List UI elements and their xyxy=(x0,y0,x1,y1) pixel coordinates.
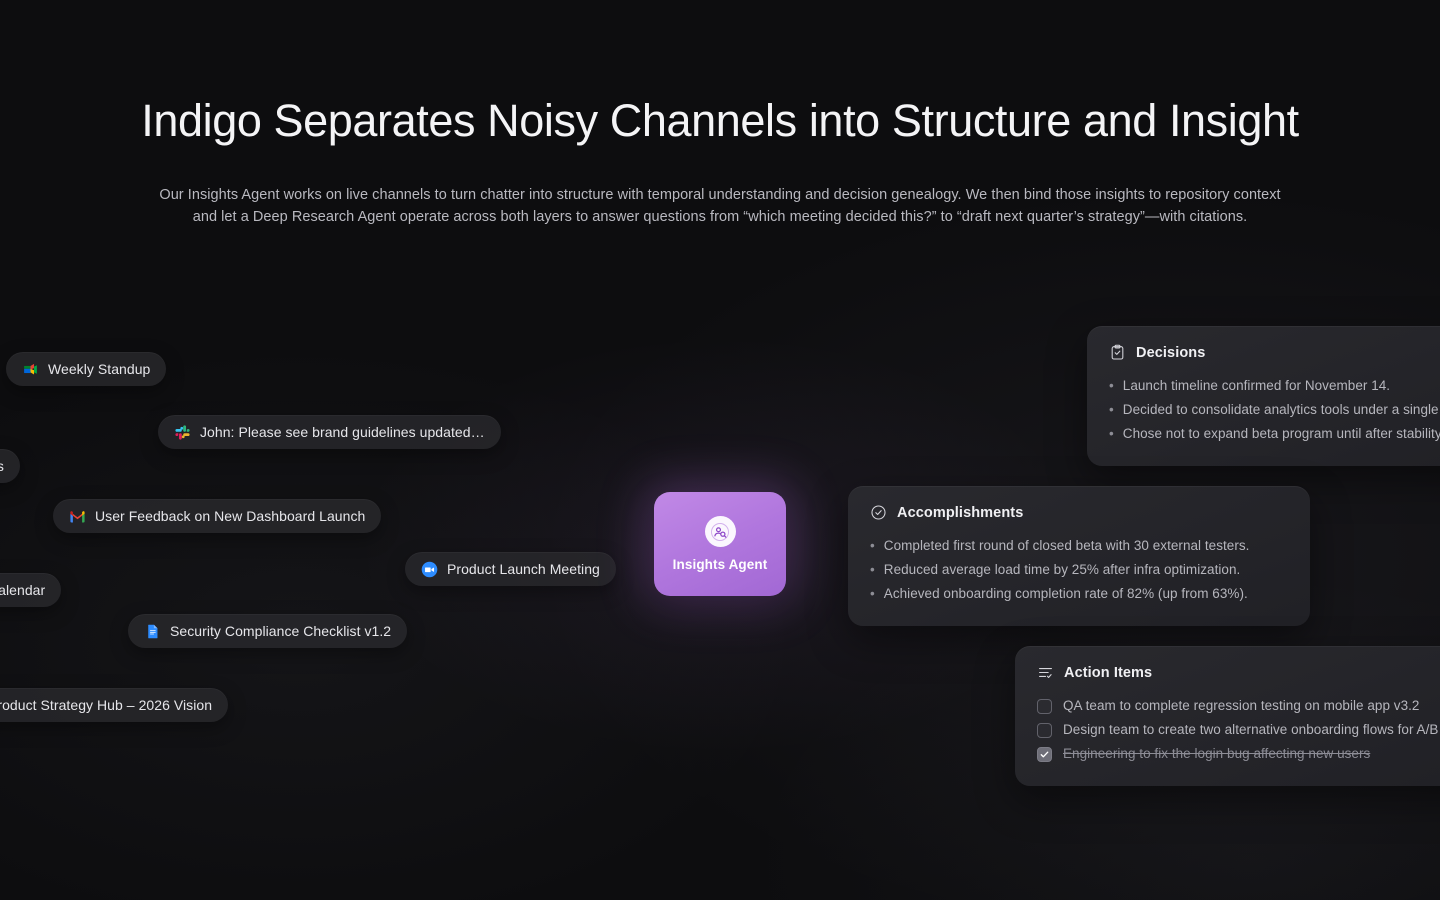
checkbox-unchecked[interactable] xyxy=(1037,723,1052,738)
source-chip-user-feedback[interactable]: User Feedback on New Dashboard Launch xyxy=(53,499,381,533)
source-chip-weekly-standup[interactable]: Weekly Standup xyxy=(6,352,166,386)
list-item: •Reduced average load time by 25% after … xyxy=(870,558,1288,582)
user-search-icon xyxy=(710,522,730,542)
list-item-label: Achieved onboarding completion rate of 8… xyxy=(884,582,1248,606)
checkbox-unchecked[interactable] xyxy=(1037,699,1052,714)
source-chip-label: User Feedback on New Dashboard Launch xyxy=(95,508,365,524)
list-item-label: Decided to consolidate analytics tools u… xyxy=(1123,398,1440,422)
agent-icon-badge xyxy=(705,516,736,547)
clipboard-check-icon xyxy=(1109,344,1126,361)
list-item-label: Launch timeline confirmed for November 1… xyxy=(1123,374,1390,398)
panel-accomplishments[interactable]: Accomplishments •Completed first round o… xyxy=(848,486,1310,626)
page-header: Indigo Separates Noisy Channels into Str… xyxy=(0,0,1440,228)
list-item: •Decided to consolidate analytics tools … xyxy=(1109,398,1440,422)
bullet-dot: • xyxy=(1109,398,1114,422)
list-item-label: Completed first round of closed beta wit… xyxy=(884,534,1250,558)
source-chip-label: Security Compliance Checklist v1.2 xyxy=(170,623,391,639)
action-items-list: QA team to complete regression testing o… xyxy=(1037,694,1440,766)
decisions-list: •Launch timeline confirmed for November … xyxy=(1109,374,1440,446)
list-item[interactable]: Design team to create two alternative on… xyxy=(1037,718,1440,742)
source-chip-product-strategy-hub[interactable]: Product Strategy Hub – 2026 Vision xyxy=(0,688,228,722)
checkbox-checked[interactable] xyxy=(1037,747,1052,762)
gmail-icon xyxy=(69,508,86,525)
source-chip-calendar-clipped[interactable]: Calendar xyxy=(0,573,61,607)
source-chip-product-launch-meeting[interactable]: Product Launch Meeting xyxy=(405,552,616,586)
panel-header: Action Items xyxy=(1037,664,1440,681)
list-item[interactable]: Engineering to fix the login bug affecti… xyxy=(1037,742,1440,766)
panel-decisions[interactable]: Decisions •Launch timeline confirmed for… xyxy=(1087,326,1440,466)
panel-action-items[interactable]: Action Items QA team to complete regress… xyxy=(1015,646,1440,786)
list-item-label: Reduced average load time by 25% after i… xyxy=(884,558,1241,582)
bullet-dot: • xyxy=(870,534,875,558)
source-chip-label: John: Please see brand guidelines update… xyxy=(200,424,485,440)
accomplishments-list: •Completed first round of closed beta wi… xyxy=(870,534,1288,606)
source-chip-assets-clipped[interactable]: sets xyxy=(0,449,20,483)
source-chip-label: Calendar xyxy=(0,582,45,598)
page-subtitle: Our Insights Agent works on live channel… xyxy=(156,184,1284,228)
panel-header: Accomplishments xyxy=(870,504,1288,521)
zoom-icon xyxy=(421,561,438,578)
bullet-dot: • xyxy=(870,582,875,606)
list-item: •Achieved onboarding completion rate of … xyxy=(870,582,1288,606)
page-title: Indigo Separates Noisy Channels into Str… xyxy=(0,96,1440,146)
panel-title: Accomplishments xyxy=(897,505,1023,521)
list-item-label: Chose not to expand beta program until a… xyxy=(1123,422,1440,446)
bullet-dot: • xyxy=(870,558,875,582)
insights-agent-node[interactable]: Insights Agent xyxy=(654,492,786,596)
list-item: •Launch timeline confirmed for November … xyxy=(1109,374,1440,398)
google-docs-icon xyxy=(144,623,161,640)
list-item: •Completed first round of closed beta wi… xyxy=(870,534,1288,558)
source-chip-label: Product Strategy Hub – 2026 Vision xyxy=(0,697,212,713)
circle-check-icon xyxy=(870,504,887,521)
bullet-dot: • xyxy=(1109,422,1114,446)
list-item-label: Design team to create two alternative on… xyxy=(1063,718,1440,742)
source-chip-label: Weekly Standup xyxy=(48,361,150,377)
list-item[interactable]: QA team to complete regression testing o… xyxy=(1037,694,1440,718)
slack-icon xyxy=(174,424,191,441)
canvas: Indigo Separates Noisy Channels into Str… xyxy=(0,0,1440,900)
list-item: •Chose not to expand beta program until … xyxy=(1109,422,1440,446)
check-icon xyxy=(1039,749,1050,760)
panel-title: Decisions xyxy=(1136,345,1205,361)
source-chip-label: Product Launch Meeting xyxy=(447,561,600,577)
bullet-dot: • xyxy=(1109,374,1114,398)
google-meet-icon xyxy=(22,361,39,378)
list-item-label: Engineering to fix the login bug affecti… xyxy=(1063,742,1370,766)
source-chip-label: sets xyxy=(0,458,4,474)
source-chip-security-checklist[interactable]: Security Compliance Checklist v1.2 xyxy=(128,614,407,648)
source-chip-slack-message[interactable]: John: Please see brand guidelines update… xyxy=(158,415,501,449)
agent-label: Insights Agent xyxy=(673,557,768,572)
panel-title: Action Items xyxy=(1064,665,1152,681)
list-check-icon xyxy=(1037,664,1054,681)
list-item-label: QA team to complete regression testing o… xyxy=(1063,694,1419,718)
panel-header: Decisions xyxy=(1109,344,1440,361)
